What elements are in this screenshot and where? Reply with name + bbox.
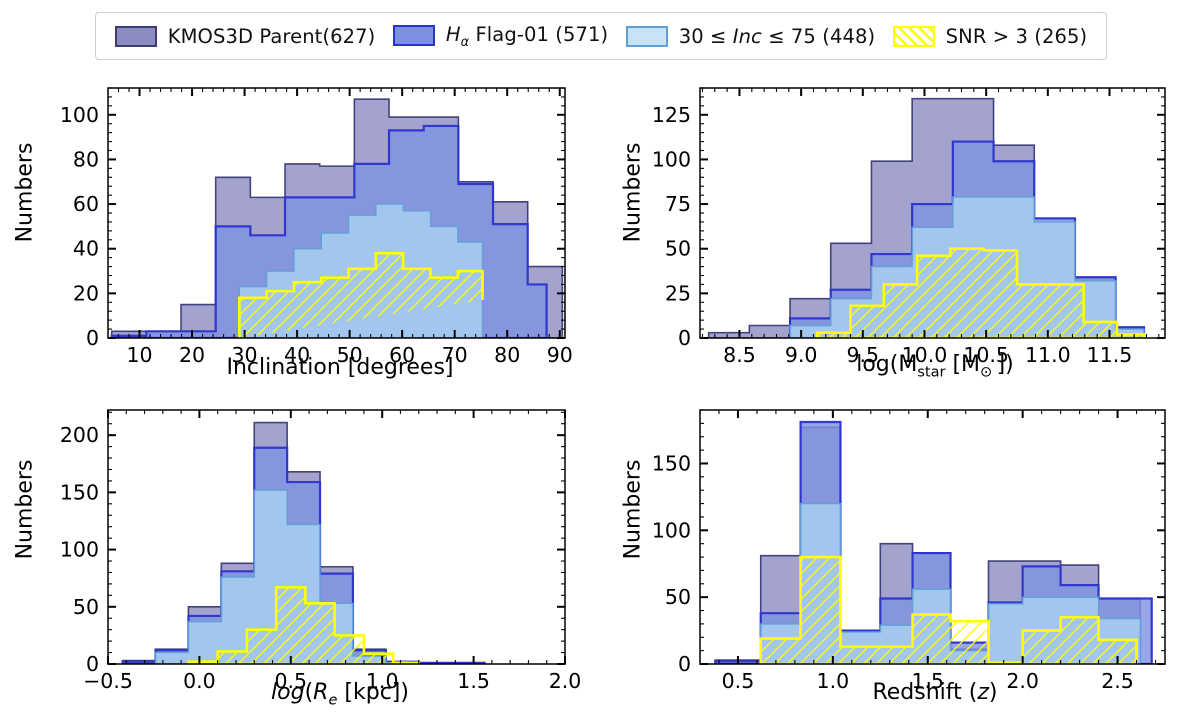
svg-text:0: 0	[678, 326, 691, 350]
legend-entry-parent: KMOS3D Parent(627)	[115, 25, 376, 48]
ylabel-inclination: Numbers	[13, 113, 38, 273]
legend-label-inc: 30 ≤ Inc ≤ 75 (448)	[679, 25, 876, 48]
svg-text:50: 50	[665, 585, 691, 609]
plot-inclination: 102030405060708090020406080100	[0, 70, 600, 390]
svg-text:0: 0	[86, 326, 99, 350]
legend-label-snr: SNR > 3 (265)	[946, 25, 1088, 48]
legend-swatch-snr	[893, 26, 935, 47]
plot-logmstar: 8.59.09.510.010.511.011.50255075100125	[600, 70, 1200, 390]
legend-label-flag01: Hα Flag-01 (571)	[446, 23, 608, 50]
xlabel-logre: log(Re [kpc])	[110, 680, 570, 708]
ylabel-logmstar: Numbers	[621, 113, 646, 273]
svg-text:50: 50	[73, 595, 99, 619]
legend-swatch-inc	[626, 26, 668, 47]
svg-text:100: 100	[60, 103, 99, 127]
svg-text:75: 75	[665, 192, 691, 216]
svg-text:100: 100	[60, 538, 99, 562]
panel-logmstar: Numbers 8.59.09.510.010.511.011.50255075…	[600, 70, 1200, 390]
svg-text:0: 0	[86, 652, 99, 676]
figure-canvas: KMOS3D Parent(627) Hα Flag-01 (571) 30 ≤…	[0, 0, 1200, 720]
ylabel-redshift: Numbers	[621, 430, 646, 590]
legend-entry-snr: SNR > 3 (265)	[893, 25, 1088, 48]
legend-entry-flag01: Hα Flag-01 (571)	[393, 23, 608, 50]
xlabel-redshift: Redshift (z)	[700, 680, 1170, 705]
svg-text:20: 20	[73, 281, 99, 305]
svg-text:100: 100	[652, 147, 691, 171]
panel-logre: Numbers −0.50.00.51.01.52.0050100150200 …	[0, 392, 600, 720]
legend-entry-inc: 30 ≤ Inc ≤ 75 (448)	[626, 25, 876, 48]
legend-swatch-parent	[115, 26, 157, 47]
svg-text:150: 150	[652, 451, 691, 475]
svg-text:125: 125	[652, 103, 691, 127]
svg-text:0: 0	[678, 652, 691, 676]
legend-swatch-flag01	[393, 25, 435, 46]
svg-text:25: 25	[665, 281, 691, 305]
svg-text:150: 150	[60, 480, 99, 504]
plot-logre: −0.50.00.51.01.52.0050100150200	[0, 392, 600, 720]
xlabel-inclination: Inclination [degrees]	[110, 355, 570, 380]
svg-text:40: 40	[73, 237, 99, 261]
legend-label-parent: KMOS3D Parent(627)	[168, 25, 376, 48]
panel-redshift: Numbers 0.51.01.52.02.5050100150 Redshif…	[600, 392, 1200, 720]
xlabel-logmstar: log(Mstar [M⊙ ])	[700, 352, 1170, 380]
panel-inclination: Numbers 102030405060708090020406080100 I…	[0, 70, 600, 390]
plot-redshift: 0.51.01.52.02.5050100150	[600, 392, 1200, 720]
svg-text:100: 100	[652, 518, 691, 542]
svg-text:200: 200	[60, 423, 99, 447]
ylabel-logre: Numbers	[13, 430, 38, 590]
legend: KMOS3D Parent(627) Hα Flag-01 (571) 30 ≤…	[95, 12, 1107, 60]
svg-text:80: 80	[73, 147, 99, 171]
svg-text:50: 50	[665, 237, 691, 261]
svg-text:60: 60	[73, 192, 99, 216]
